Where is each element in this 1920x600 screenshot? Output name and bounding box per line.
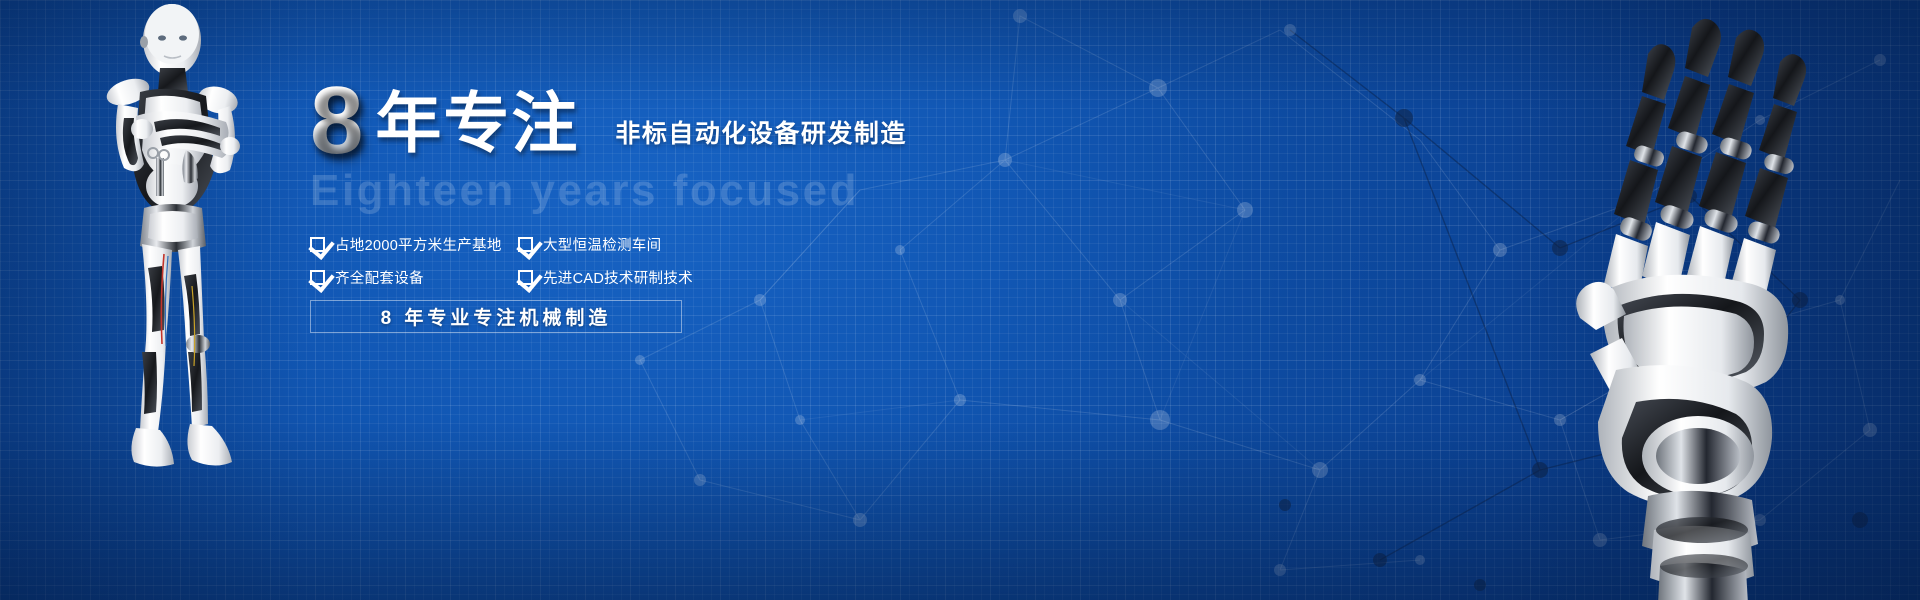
robotic-hand-graphic	[1572, 10, 1902, 600]
hero-banner: 8 年专注 非标自动化设备研发制造 Eighteen years focused…	[0, 0, 1920, 600]
humanoid-robot-graphic	[80, 0, 260, 490]
check-icon	[518, 237, 533, 252]
headline-subtitle: 非标自动化设备研发制造	[615, 114, 907, 150]
years-number: 8	[310, 78, 361, 164]
feature-row: 占地2000平方米生产基地 大型恒温检测车间	[310, 234, 710, 255]
feature-list: 占地2000平方米生产基地 大型恒温检测车间 齐全配套设备 先进CAD技术研制技…	[310, 234, 710, 288]
feature-label: 齐全配套设备	[335, 267, 424, 288]
feature-label: 占地2000平方米生产基地	[335, 234, 502, 255]
feature-row: 齐全配套设备 先进CAD技术研制技术	[310, 267, 710, 288]
banner-content: 8 年专注 非标自动化设备研发制造 Eighteen years focused…	[310, 68, 1130, 333]
feature-label: 先进CAD技术研制技术	[543, 267, 693, 288]
slogan-box: 8 年专业专注机械制造	[310, 300, 682, 333]
feature-item: 占地2000平方米生产基地	[310, 234, 518, 255]
feature-item: 大型恒温检测车间	[518, 234, 661, 255]
feature-label: 大型恒温检测车间	[543, 234, 661, 255]
headline-english: Eighteen years focused	[310, 166, 1130, 216]
feature-item: 齐全配套设备	[310, 267, 518, 288]
slogan-text: 8 年专业专注机械制造	[381, 303, 612, 330]
headline-row: 8 年专注 非标自动化设备研发制造	[310, 68, 1130, 160]
headline-cn: 年专注	[375, 90, 579, 156]
check-icon	[518, 270, 533, 285]
check-icon	[310, 270, 325, 285]
feature-item: 先进CAD技术研制技术	[518, 267, 693, 288]
check-icon	[310, 237, 325, 252]
